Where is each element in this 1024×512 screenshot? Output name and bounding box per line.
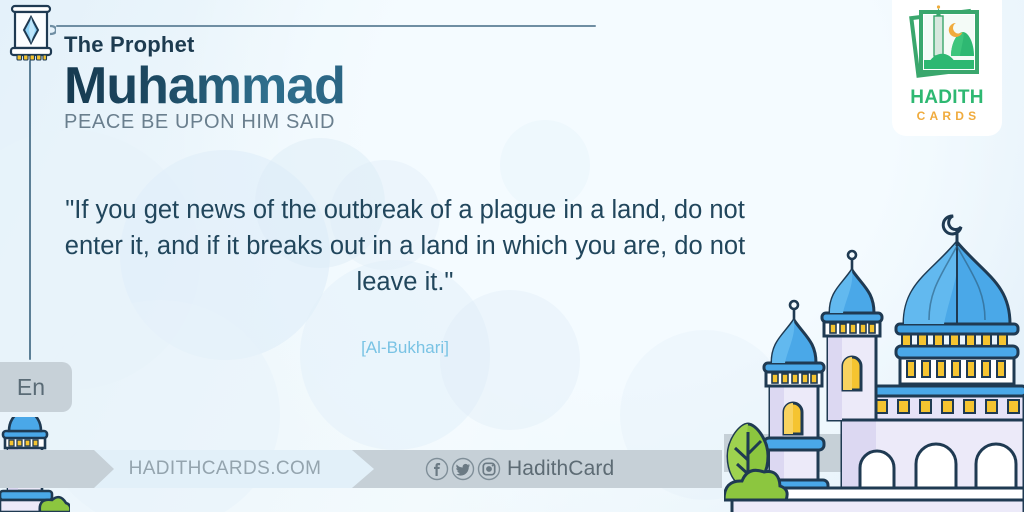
- brand-logo[interactable]: HADITH CARDS: [892, 0, 1002, 136]
- mosque-illustration: [724, 212, 1024, 512]
- language-badge[interactable]: En: [0, 362, 72, 412]
- header-block: The Prophet Muhammad PEACE BE UPON HIM S…: [64, 34, 345, 133]
- page-title: Muhammad: [64, 60, 345, 113]
- mosque-cards-logo-icon: [905, 4, 989, 84]
- lantern-icon: [6, 4, 56, 66]
- website-url[interactable]: HADITHCARDS.COM: [94, 450, 356, 488]
- hadith-card: The Prophet Muhammad PEACE BE UPON HIM S…: [0, 0, 1024, 512]
- social-links: HadithCard: [425, 450, 614, 488]
- hadith-source: [Al-Bukhari]: [40, 338, 770, 358]
- social-handle[interactable]: HadithCard: [507, 457, 614, 481]
- horizontal-rule: [56, 25, 596, 27]
- hadith-quote-text: "If you get news of the outbreak of a pl…: [40, 192, 770, 301]
- facebook-icon[interactable]: [425, 457, 449, 481]
- subtitle-text: PEACE BE UPON HIM SAID: [64, 111, 345, 133]
- twitter-icon[interactable]: [451, 457, 475, 481]
- eyebrow-text: The Prophet: [64, 34, 345, 56]
- logo-text-primary: HADITH: [910, 88, 984, 107]
- language-badge-label: En: [17, 374, 45, 401]
- instagram-icon[interactable]: [477, 457, 501, 481]
- vertical-rule: [29, 60, 31, 360]
- logo-text-secondary: CARDS: [917, 110, 981, 122]
